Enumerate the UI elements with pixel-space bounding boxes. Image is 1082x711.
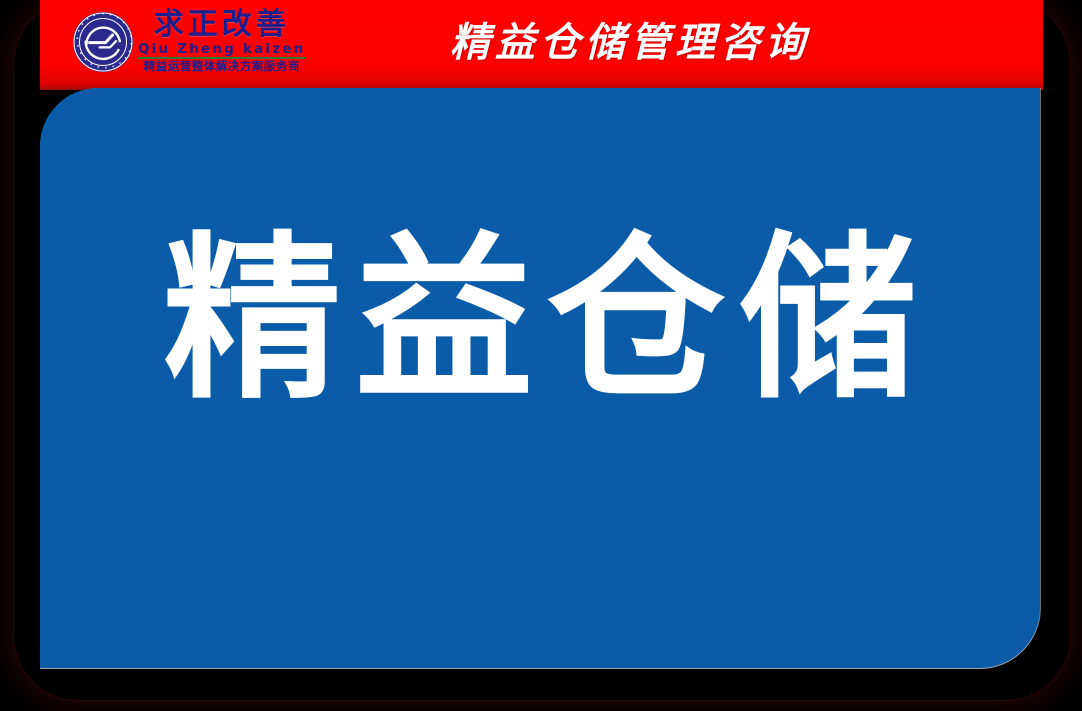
company-emblem-icon [72, 11, 134, 73]
company-name-pinyin: Qiu Zheng kaizen [138, 42, 305, 56]
slide-root: 求正改善 Qiu Zheng kaizen 精益运营整体解决方案服务商 精益仓储… [0, 0, 1082, 711]
header-band: 求正改善 Qiu Zheng kaizen 精益运营整体解决方案服务商 精益仓储… [40, 0, 1043, 90]
company-logo-text: 求正改善 Qiu Zheng kaizen 精益运营整体解决方案服务商 [138, 6, 305, 72]
header-title: 精益仓储管理咨询 [420, 12, 840, 74]
company-tagline: 精益运营整体解决方案服务商 [144, 60, 300, 72]
slide-main-title: 精益仓储 [40, 220, 1040, 420]
company-name-cn: 求正改善 [154, 10, 290, 41]
company-logo[interactable]: 求正改善 Qiu Zheng kaizen 精益运营整体解决方案服务商 [72, 6, 305, 84]
content-panel: 精益仓储 [40, 88, 1040, 668]
